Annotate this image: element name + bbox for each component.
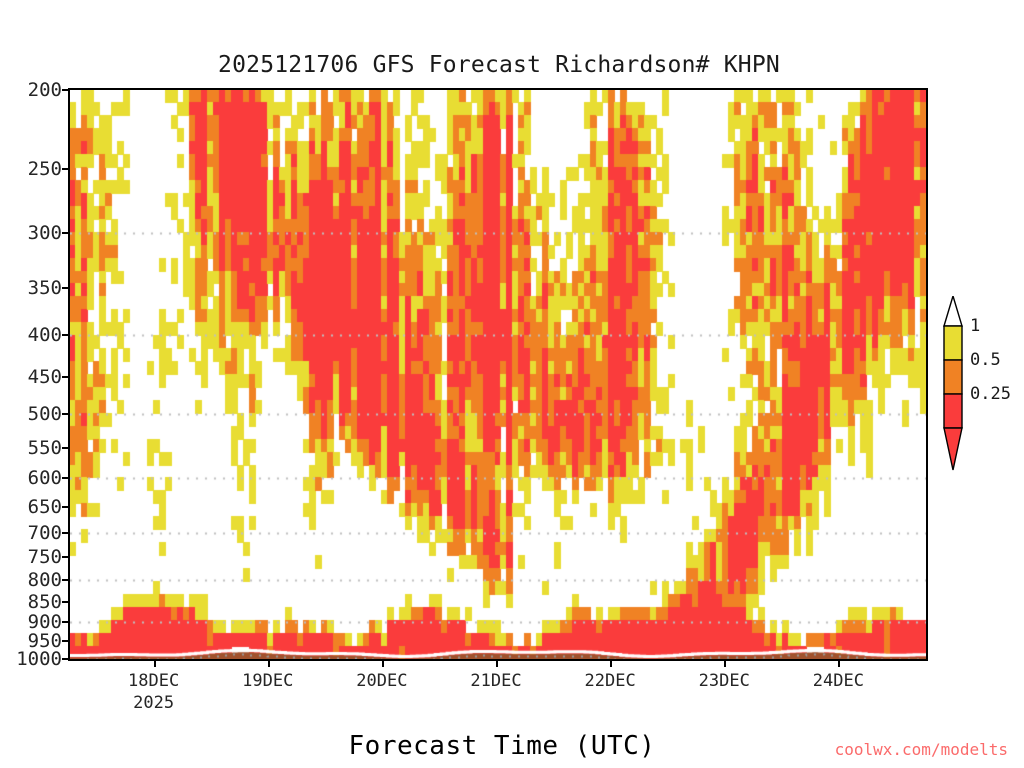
x-tick-mark [610,661,612,667]
plot-area [68,88,928,661]
chart-title-text: 2025121706 GFS Forecast Richardson# KHPN [218,52,780,78]
x-tick-label: 21DEC [470,671,521,691]
y-tick-mark [62,621,68,623]
x-axis-label-text: Forecast Time (UTC) [349,731,656,761]
y-tick-mark [62,532,68,534]
x-tick-mark [838,661,840,667]
y-tick-label: 200 [28,79,62,101]
y-tick-label: 500 [28,403,62,425]
y-tick-label: 700 [28,522,62,544]
y-tick-mark [62,447,68,449]
y-tick-mark [62,601,68,603]
x-tick-label: 24DEC [813,671,864,691]
y-tick-mark [62,579,68,581]
y-tick-label: 1000 [16,648,62,670]
x-tick-label: 20DEC [356,671,407,691]
x-tick-label: 19DEC [242,671,293,691]
colorbar-swatches [938,296,968,472]
y-tick-mark [62,506,68,508]
x-tick-mark [382,661,384,667]
y-tick-mark [62,413,68,415]
x-tick-label: 18DEC2025 [128,671,179,713]
y-tick-mark [62,376,68,378]
x-tick-mark [724,661,726,667]
y-tick-mark [62,477,68,479]
y-tick-mark [62,658,68,660]
y-tick-label: 600 [28,467,62,489]
x-tick-year: 2025 [128,693,179,713]
y-tick-label: 300 [28,222,62,244]
y-tick-mark [62,556,68,558]
y-tick-label: 800 [28,569,62,591]
y-tick-label: 850 [28,591,62,613]
colorbar-extend-bottom [944,428,962,470]
x-tick-mark [496,661,498,667]
chart-page: 2025121706 GFS Forecast Richardson# KHPN… [0,0,1024,768]
y-tick-mark [62,232,68,234]
y-tick-mark [62,168,68,170]
colorbar: 10.50.25 [938,296,1024,472]
x-tick-mark [268,661,270,667]
y-tick-mark [62,334,68,336]
colorbar-tick-label: 0.5 [970,350,1001,370]
y-tick-mark [62,640,68,642]
y-tick-label: 450 [28,366,62,388]
colorbar-tick-label: 1 [970,316,980,336]
x-tick-mark [154,661,156,667]
colorbar-band-1 [944,326,962,360]
colorbar-extend-top [944,296,962,326]
colorbar-band-2 [944,360,962,394]
y-tick-mark [62,287,68,289]
x-axis: 18DEC202519DEC20DEC21DEC22DEC23DEC24DEC [68,661,928,721]
colorbar-band-3 [944,394,962,428]
x-tick-label: 22DEC [585,671,636,691]
watermark-credit[interactable]: coolwx.com/modelts [835,740,1008,759]
gridlines [70,90,926,659]
y-tick-label: 650 [28,496,62,518]
y-tick-mark [62,89,68,91]
y-tick-label: 750 [28,546,62,568]
y-tick-label: 400 [28,324,62,346]
y-axis: 2002503003504004505005506006507007508008… [0,88,68,661]
x-tick-label: 23DEC [699,671,750,691]
colorbar-tick-label: 0.25 [970,384,1011,404]
y-tick-label: 350 [28,277,62,299]
y-tick-label: 250 [28,158,62,180]
y-tick-label: 550 [28,437,62,459]
page-title: 2025121706 GFS Forecast Richardson# KHPN [0,52,1024,78]
